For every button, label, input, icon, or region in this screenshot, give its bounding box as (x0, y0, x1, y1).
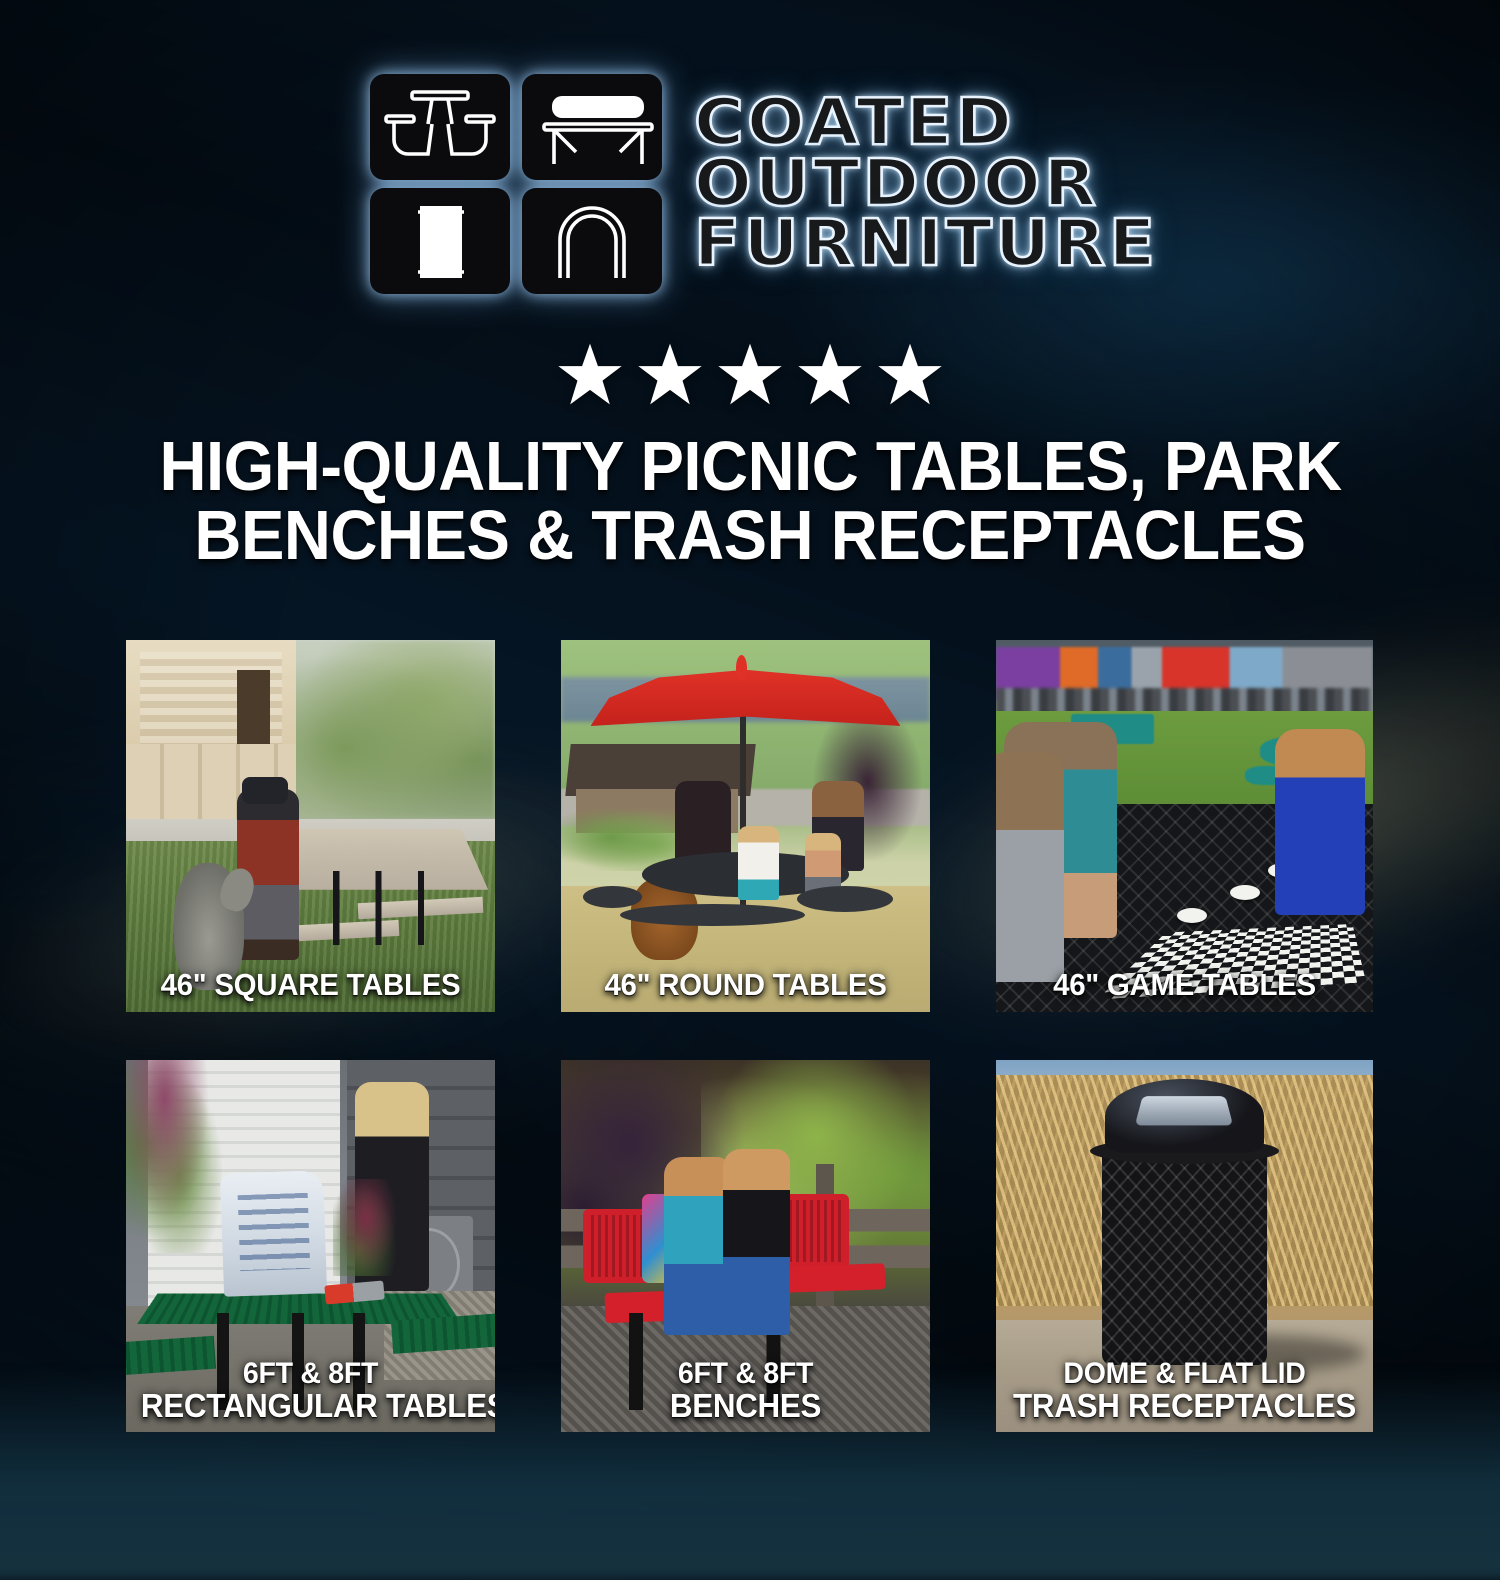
tile-caption-line-1: 46" SQUARE TABLES (141, 969, 480, 1000)
product-grid: 46" SQUARE TABLES (126, 640, 1372, 1432)
tile-caption: 6FT & 8FT BENCHES (570, 1359, 921, 1422)
tile-caption-line-2: TRASH RECEPTACLES (1011, 1389, 1358, 1422)
product-photo-round-tables (561, 640, 930, 1012)
product-tile-benches[interactable]: 6FT & 8FT BENCHES (561, 1060, 930, 1432)
product-tile-square-tables[interactable]: 46" SQUARE TABLES (126, 640, 495, 1012)
tile-caption-line-1: 6FT & 8FT (576, 1359, 915, 1389)
product-tile-trash-receptacles[interactable]: DOME & FLAT LID TRASH RECEPTACLES (996, 1060, 1373, 1432)
star-icon (557, 342, 623, 406)
promo-poster: COATED OUTDOOR FURNITURE HIGH-QUALITY PI… (0, 0, 1500, 1500)
page-title: HIGH-QUALITY PICNIC TABLES, PARK BENCHES… (159, 432, 1340, 569)
coated-outdoor-furniture-logo (368, 72, 664, 296)
tile-caption-line-2: RECTANGULAR TABLES (141, 1389, 480, 1422)
wordmark-line-1: COATED (694, 94, 1158, 153)
product-tile-game-tables[interactable]: 46" GAME TABLES (996, 640, 1373, 1012)
wordmark-line-3: FURNITURE (694, 215, 1158, 274)
tile-caption-line-1: 46" GAME TABLES (1011, 969, 1358, 1000)
brand-header: COATED OUTDOOR FURNITURE (0, 0, 1500, 296)
headline-line-2: BENCHES & TRASH RECEPTACLES (159, 501, 1340, 570)
star-icon (877, 342, 943, 406)
tile-caption: DOME & FLAT LID TRASH RECEPTACLES (1005, 1359, 1363, 1422)
tile-caption-line-1: DOME & FLAT LID (1011, 1359, 1358, 1389)
product-photo-game-tables (996, 640, 1373, 1012)
tile-caption: 46" ROUND TABLES (570, 969, 921, 1000)
tile-caption: 46" GAME TABLES (1005, 969, 1363, 1000)
tile-caption-line-1: 46" ROUND TABLES (576, 969, 915, 1000)
wordmark-line-2: OUTDOOR (694, 155, 1158, 214)
star-icon (717, 342, 783, 406)
product-tile-round-tables[interactable]: 46" ROUND TABLES (561, 640, 930, 1012)
headline-line-1: HIGH-QUALITY PICNIC TABLES, PARK (159, 432, 1340, 501)
star-icon (797, 342, 863, 406)
tile-caption: 6FT & 8FT RECTANGULAR TABLES (135, 1359, 486, 1422)
tile-caption-line-1: 6FT & 8FT (141, 1359, 480, 1389)
product-tile-rectangular-tables[interactable]: 6FT & 8FT RECTANGULAR TABLES (126, 1060, 495, 1432)
brand-wordmark: COATED OUTDOOR FURNITURE (694, 94, 1132, 275)
tile-caption: 46" SQUARE TABLES (135, 969, 486, 1000)
trash-receptacle-icon (418, 206, 464, 278)
star-rating (0, 342, 1500, 406)
tile-caption-line-2: BENCHES (576, 1389, 915, 1422)
star-icon (637, 342, 703, 406)
product-photo-square-tables (126, 640, 495, 1012)
